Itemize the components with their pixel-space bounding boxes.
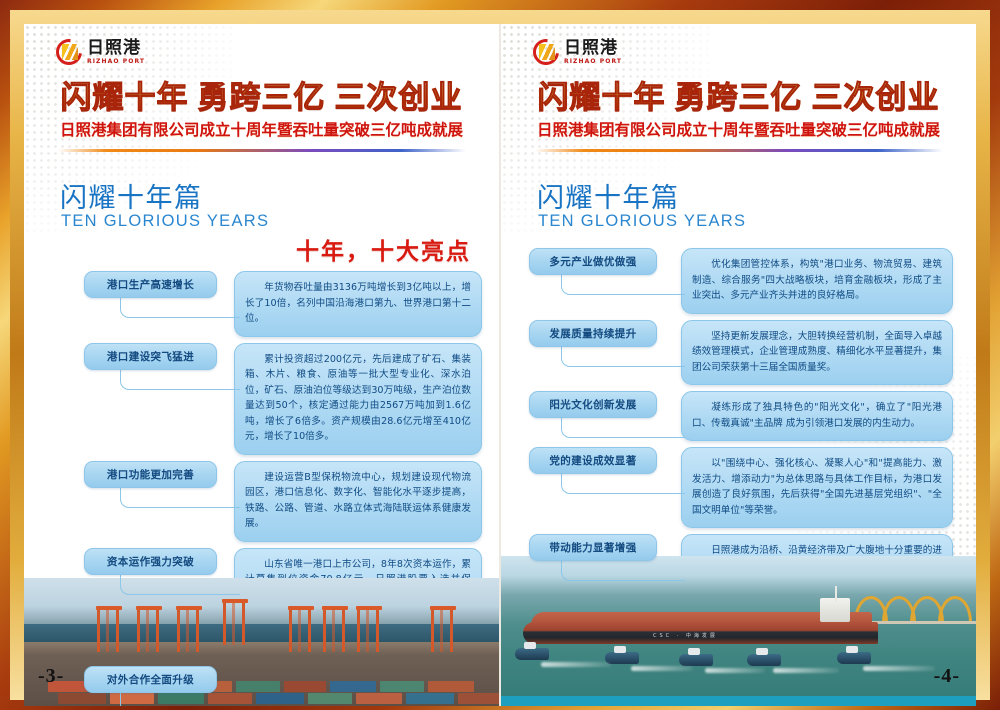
right-page: 日照港 RIZHAO PORT 闪耀十年勇跨三亿三次创业 日照港集团有限公司成立… (500, 24, 976, 706)
logo-chinese-name: 日照港 (564, 40, 622, 57)
logo-chinese-name: 日照港 (87, 40, 145, 57)
callout-body: 优化集团管控体系，构筑"港口业务、物流贸易、建筑制造、综合服务"四大战略板块，培… (681, 248, 953, 314)
callout-connector (561, 347, 685, 367)
callout-tag: 多元产业做优做强 (529, 248, 657, 275)
decorative-outer-frame: 日照港 RIZHAO PORT 闪耀十年勇跨三亿三次创业 日照港集团有限公司成立… (0, 0, 1000, 710)
banner-headline-part2: 勇跨三亿 (675, 80, 803, 116)
brochure-spread: 日照港 RIZHAO PORT 闪耀十年勇跨三亿三次创业 日照港集团有限公司成立… (24, 24, 976, 686)
callout-body: 凝练形成了独具特色的"阳光文化"，确立了"阳光港口、传载真诚"主品牌 成为引领港… (681, 391, 953, 441)
callout-row: 多元产业做优做强 优化集团管控体系，构筑"港口业务、物流贸易、建筑制造、综合服务… (501, 248, 976, 314)
callout-connector (561, 275, 685, 295)
callout-row: 发展质量持续提升 坚持更新发展理念，大胆转换经营机制，全面导入卓越绩效管理模式，… (501, 320, 976, 386)
callout-body: 累计投资超过200亿元，先后建成了矿石、集装箱、木片、粮食、原油等一批大型专业化… (234, 343, 482, 455)
callout-tag: 党的建设成效显著 (529, 447, 657, 474)
callout-tag: 带动能力显著增强 (529, 534, 657, 561)
logo-english-name: RIZHAO PORT (564, 59, 622, 65)
left-page: 日照港 RIZHAO PORT 闪耀十年勇跨三亿三次创业 日照港集团有限公司成立… (24, 24, 500, 706)
rizhao-port-logo: 日照港 RIZHAO PORT (533, 39, 622, 65)
callout-row: 港口生产高速增长 年货物吞吐量由3136万吨增长到3亿吨以上，增长了10倍，名列… (24, 271, 499, 337)
callout-connector (120, 693, 240, 706)
callout-body: 建设运营B型保税物流中心，规划建设现代物流园区，港口信息化、数字化、智能化水平逐… (234, 461, 482, 542)
callout-body: 坚持更新发展理念，大胆转换经营机制，全面导入卓越绩效管理模式，企业管理成熟度、精… (681, 320, 953, 386)
callout-connector (561, 561, 685, 581)
banner-headline: 闪耀十年勇跨三亿三次创业 (501, 82, 976, 115)
callout-row: 港口功能更加完善 建设运营B型保税物流中心，规划建设现代物流园区，港口信息化、数… (24, 461, 499, 542)
callout-row: 港口建设突飞猛进 累计投资超过200亿元，先后建成了矿石、集装箱、木片、粮食、原… (24, 343, 499, 455)
callout-row: 党的建设成效显著 以"围绕中心、强化核心、凝聚人心"和"提高能力、激发活力、增添… (501, 447, 976, 528)
port-logo-icon (56, 39, 82, 65)
banner-subtitle: 日照港集团有限公司成立十周年暨吞吐量突破三亿吨成就展 (24, 118, 499, 140)
banner-headline: 闪耀十年勇跨三亿三次创业 (24, 82, 499, 115)
callout-connector (120, 575, 240, 595)
banner-divider-rule (58, 149, 466, 152)
banner-subtitle: 日照港集团有限公司成立十周年暨吞吐量突破三亿吨成就展 (501, 118, 976, 140)
callout-tag: 港口建设突飞猛进 (84, 343, 217, 370)
right-callout-list: 多元产业做优做强 优化集团管控体系，构筑"港口业务、物流贸易、建筑制造、综合服务… (501, 248, 976, 606)
decorative-gold-bevel: 日照港 RIZHAO PORT 闪耀十年勇跨三亿三次创业 日照港集团有限公司成立… (10, 10, 990, 700)
rizhao-port-logo: 日照港 RIZHAO PORT (56, 39, 145, 65)
banner-divider-rule (535, 149, 943, 152)
page-title-english: TEN GLORIOUS YEARS (538, 212, 746, 231)
callout-body: 以"围绕中心、强化核心、凝聚人心"和"提高能力、激发活力、增添动力"为总体思路与… (681, 447, 953, 528)
banner-headline-part2: 勇跨三亿 (198, 80, 326, 116)
page-number: -3- (38, 665, 64, 688)
callout-tag: 港口功能更加完善 (84, 461, 217, 488)
banner-headline-part3: 三次创业 (812, 80, 940, 116)
callout-tag: 阳光文化创新发展 (529, 391, 657, 418)
callout-connector (120, 370, 240, 390)
logo-english-name: RIZHAO PORT (87, 59, 145, 65)
highlights-heading: 十年，十大亮点 (296, 232, 471, 266)
callout-body: 年货物吞吐量由3136万吨增长到3亿吨以上，增长了10倍，名列中国沿海港口第九、… (234, 271, 482, 337)
page-title: 闪耀十年篇 (537, 176, 680, 215)
banner-headline-part1: 闪耀十年 (538, 80, 666, 116)
banner-headline-part3: 三次创业 (335, 80, 463, 116)
page-title-english: TEN GLORIOUS YEARS (61, 212, 269, 231)
callout-row: 阳光文化创新发展 凝练形成了独具特色的"阳光文化"，确立了"阳光港口、传载真诚"… (501, 391, 976, 441)
banner-headline-part1: 闪耀十年 (61, 80, 189, 116)
callout-tag: 发展质量持续提升 (529, 320, 657, 347)
callout-connector (561, 474, 685, 494)
exhibition-banner: 闪耀十年勇跨三亿三次创业 日照港集团有限公司成立十周年暨吞吐量突破三亿吨成就展 (501, 82, 976, 152)
callout-connector (561, 418, 685, 438)
callout-tag: 资本运作强力突破 (84, 548, 217, 575)
callout-tag: 对外合作全面升级 (84, 666, 217, 693)
port-logo-icon (533, 39, 559, 65)
exhibition-banner: 闪耀十年勇跨三亿三次创业 日照港集团有限公司成立十周年暨吞吐量突破三亿吨成就展 (24, 82, 499, 152)
page-title: 闪耀十年篇 (60, 176, 203, 215)
callout-connector (120, 488, 240, 508)
page-number: -4- (934, 665, 960, 688)
callout-connector (120, 298, 240, 318)
callout-tag: 港口生产高速增长 (84, 271, 217, 298)
